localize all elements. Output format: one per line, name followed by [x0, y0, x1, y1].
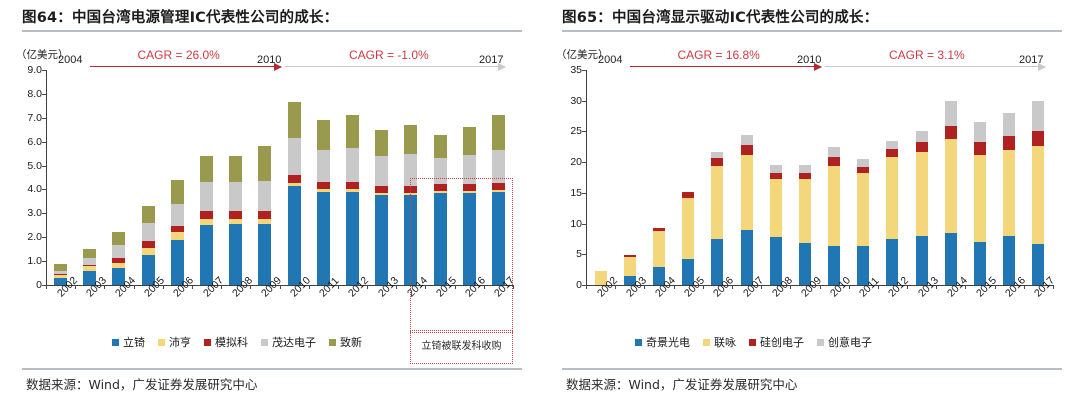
- bar-segment: [1003, 136, 1015, 150]
- bar-segment: [799, 179, 811, 242]
- y-axis-tick-mark: [42, 213, 46, 214]
- bar-segment: [741, 155, 753, 230]
- cagr-right-label: CAGR = -1.0%: [349, 48, 429, 62]
- figure-title-text-65: 中国台湾显示驱动IC代表性公司的成长：: [612, 10, 878, 26]
- bar-segment: [229, 211, 242, 219]
- figure-title-65: 图65：中国台湾显示驱动IC代表性公司的成长：: [562, 6, 1060, 27]
- bar-segment: [974, 122, 986, 142]
- cagr-left-label: CAGR = 16.8%: [677, 48, 759, 62]
- bar-segment: [112, 263, 125, 268]
- x-axis-tick-mark: [761, 285, 762, 289]
- bar-segment: [711, 239, 723, 285]
- chart-legend-64: 立锜沛亨模拟科茂达电子致新: [112, 334, 375, 350]
- bar-segment: [624, 257, 636, 277]
- header-rule-65: [562, 30, 1062, 32]
- bar-segment: [770, 179, 782, 237]
- chart-area-65: （亿美元） 0510152025303520022003200420052006…: [540, 34, 1080, 334]
- y-axis-tick-mark: [42, 118, 46, 119]
- bar-segment: [200, 225, 213, 285]
- legend-item-模拟科[interactable]: 模拟科: [204, 334, 248, 350]
- bar-segment: [346, 148, 359, 183]
- bar-segment: [83, 258, 96, 265]
- cagr-arrow-left: [90, 66, 281, 67]
- bar-segment: [1032, 131, 1044, 145]
- y-axis-tick-label: 9.0: [12, 64, 42, 76]
- bar-2012: [346, 115, 359, 285]
- y-axis-line: [586, 70, 587, 286]
- bar-segment: [317, 150, 330, 182]
- x-axis-tick-mark: [1024, 285, 1025, 289]
- bar-segment: [258, 224, 271, 285]
- bar-segment: [770, 173, 782, 179]
- bar-segment: [886, 149, 898, 157]
- legend-swatch-icon: [329, 339, 336, 346]
- figure-title-text-64: 中国台湾电源管理IC代表性公司的成长：: [72, 10, 338, 26]
- x-axis-tick-mark: [732, 285, 733, 289]
- x-axis-tick-mark: [644, 285, 645, 289]
- cagr-mid-year: 2010: [257, 54, 281, 66]
- bar-segment: [1003, 150, 1015, 237]
- bar-2004: [653, 228, 665, 285]
- bar-segment: [916, 131, 928, 142]
- x-axis-tick-mark: [163, 285, 164, 289]
- bar-2004: [112, 232, 125, 285]
- bar-segment: [492, 115, 505, 150]
- x-axis-tick-mark: [513, 285, 514, 289]
- legend-swatch-icon: [112, 339, 119, 346]
- legend-label: 奇景光电: [646, 334, 690, 350]
- bar-2006: [171, 180, 184, 285]
- y-axis-tick-label: 3.0: [12, 207, 42, 219]
- bar-segment: [171, 232, 184, 239]
- cagr-end-year: 2017: [479, 54, 503, 66]
- bar-segment: [857, 173, 869, 246]
- cagr-start-year: 2004: [598, 54, 622, 66]
- bar-2009: [258, 146, 271, 285]
- bar-segment: [258, 146, 271, 181]
- y-axis-tick-mark: [582, 162, 586, 163]
- x-axis-tick-mark: [849, 285, 850, 289]
- bar-segment: [258, 181, 271, 211]
- bar-segment: [434, 135, 447, 158]
- bar-segment: [83, 266, 96, 270]
- y-axis-tick-label: 0: [552, 279, 582, 291]
- legend-swatch-icon: [158, 339, 165, 346]
- bar-segment: [317, 189, 330, 191]
- y-axis-tick-label: 10: [552, 218, 582, 230]
- x-axis-tick-mark: [46, 285, 47, 289]
- bar-2007: [200, 156, 213, 285]
- y-axis-line: [46, 70, 47, 286]
- legend-swatch-icon: [703, 339, 710, 346]
- bar-2013: [916, 131, 928, 285]
- y-axis-tick-mark: [42, 166, 46, 167]
- legend-item-立锜[interactable]: 立锜: [112, 334, 145, 350]
- bar-segment: [346, 115, 359, 147]
- bar-segment: [886, 239, 898, 285]
- bar-segment: [288, 102, 301, 138]
- bar-segment: [375, 186, 388, 193]
- legend-item-联咏[interactable]: 联咏: [703, 334, 736, 350]
- bar-2008: [229, 156, 242, 285]
- legend-swatch-icon: [817, 339, 824, 346]
- bar-segment: [112, 258, 125, 263]
- y-axis-tick-mark: [582, 254, 586, 255]
- x-axis-tick-mark: [104, 285, 105, 289]
- bar-segment: [171, 180, 184, 204]
- bar-2010: [288, 102, 301, 285]
- legend-item-沛亨[interactable]: 沛亨: [158, 334, 191, 350]
- bar-segment: [711, 166, 723, 239]
- bar-segment: [886, 141, 898, 150]
- bar-segment: [200, 219, 213, 225]
- bar-segment: [974, 242, 986, 285]
- bar-segment: [1032, 146, 1044, 244]
- y-axis-tick-label: 5.0: [12, 160, 42, 172]
- y-axis-tick-mark: [582, 224, 586, 225]
- x-axis-tick-mark: [221, 285, 222, 289]
- bar-segment: [317, 182, 330, 189]
- y-axis-tick-label: 5: [552, 248, 582, 260]
- bar-segment: [741, 135, 753, 145]
- bar-segment: [828, 157, 840, 166]
- source-note-64: 数据来源：Wind，广发证券发展研究中心: [26, 374, 257, 393]
- bar-segment: [288, 186, 301, 285]
- y-axis-tick-mark: [582, 193, 586, 194]
- y-axis-tick-mark: [582, 101, 586, 102]
- y-axis-tick-mark: [582, 70, 586, 71]
- legend-item-硅创电子[interactable]: 硅创电子: [749, 334, 804, 350]
- bar-2010: [828, 147, 840, 285]
- cagr-start-year: 2004: [58, 54, 82, 66]
- bar-segment: [317, 120, 330, 150]
- bar-segment: [288, 138, 301, 175]
- bar-segment: [229, 182, 242, 211]
- y-axis-tick-mark: [42, 70, 46, 71]
- bar-2014: [945, 101, 957, 285]
- bar-segment: [258, 211, 271, 219]
- bar-segment: [54, 264, 67, 271]
- bar-segment: [857, 167, 869, 173]
- chart-legend-65: 奇景光电联咏硅创电子创意电子: [635, 334, 885, 350]
- footer-rule-64: [22, 368, 522, 370]
- bar-segment: [682, 192, 694, 198]
- legend-item-致新[interactable]: 致新: [329, 334, 362, 350]
- x-axis-tick-mark: [134, 285, 135, 289]
- bar-segment: [1032, 101, 1044, 132]
- legend-label: 模拟科: [215, 334, 248, 350]
- y-axis-tick-label: 0: [12, 279, 42, 291]
- legend-swatch-icon: [204, 339, 211, 346]
- bar-segment: [83, 265, 96, 266]
- y-axis-tick-label: 25: [552, 125, 582, 137]
- bar-2017: [1032, 101, 1044, 285]
- y-axis-tick-label: 30: [552, 95, 582, 107]
- bar-segment: [653, 228, 665, 230]
- bar-2011: [857, 159, 869, 285]
- cagr-end-year: 2017: [1019, 54, 1043, 66]
- x-axis-tick-mark: [878, 285, 879, 289]
- bar-2007: [741, 135, 753, 286]
- bar-segment: [799, 243, 811, 285]
- bar-segment: [945, 126, 957, 140]
- bar-segment: [886, 157, 898, 239]
- bar-2015: [974, 122, 986, 285]
- bar-segment: [463, 127, 476, 154]
- figure-number-64: 图64：: [22, 10, 72, 26]
- bar-2008: [770, 165, 782, 285]
- bar-2005: [142, 206, 155, 285]
- x-axis-tick-mark: [338, 285, 339, 289]
- bar-segment: [346, 192, 359, 285]
- bar-segment: [258, 219, 271, 224]
- legend-label: 联咏: [714, 334, 736, 350]
- bar-segment: [375, 193, 388, 195]
- cagr-left-label: CAGR = 26.0%: [137, 48, 219, 62]
- source-note-65: 数据来源：Wind，广发证券发展研究中心: [566, 374, 797, 393]
- bar-segment: [112, 245, 125, 258]
- bar-segment: [200, 211, 213, 219]
- bar-segment: [142, 248, 155, 255]
- x-axis-tick-mark: [907, 285, 908, 289]
- bar-segment: [200, 156, 213, 182]
- y-axis-tick-label: 1.0: [12, 255, 42, 267]
- bar-segment: [171, 226, 184, 232]
- x-axis-tick-mark: [309, 285, 310, 289]
- bar-segment: [83, 249, 96, 258]
- bar-segment: [916, 142, 928, 151]
- cagr-arrow-right: [825, 66, 1045, 67]
- y-axis-tick-mark: [582, 131, 586, 132]
- bar-segment: [828, 166, 840, 246]
- bar-segment: [317, 192, 330, 285]
- bar-segment: [200, 182, 213, 211]
- bar-segment: [945, 139, 957, 233]
- legend-item-茂达电子[interactable]: 茂达电子: [261, 334, 316, 350]
- bar-segment: [799, 165, 811, 172]
- bar-segment: [112, 232, 125, 244]
- x-axis-tick-mark: [674, 285, 675, 289]
- bar-segment: [770, 237, 782, 285]
- cagr-right-label: CAGR = 3.1%: [889, 48, 965, 62]
- bar-segment: [404, 125, 417, 154]
- bar-segment: [945, 101, 957, 126]
- bar-segment: [375, 130, 388, 157]
- legend-label: 创意电子: [828, 334, 872, 350]
- bar-segment: [624, 255, 636, 257]
- y-axis-tick-label: 8.0: [12, 88, 42, 100]
- x-axis-tick-mark: [280, 285, 281, 289]
- y-axis-tick-label: 15: [552, 187, 582, 199]
- y-axis-tick-mark: [42, 189, 46, 190]
- x-axis-tick-mark: [820, 285, 821, 289]
- callout-box-64: [410, 178, 513, 333]
- x-axis-tick-mark: [250, 285, 251, 289]
- bar-segment: [229, 156, 242, 182]
- y-axis-tick-mark: [42, 261, 46, 262]
- bar-segment: [653, 231, 665, 267]
- y-axis-tick-label: 6.0: [12, 136, 42, 148]
- bar-2016: [1003, 113, 1015, 285]
- bar-segment: [741, 230, 753, 285]
- y-axis-tick-label: 20: [552, 156, 582, 168]
- bar-2011: [317, 120, 330, 285]
- bar-segment: [288, 183, 301, 186]
- bar-segment: [711, 158, 723, 165]
- bar-segment: [171, 204, 184, 227]
- legend-label: 立锜: [123, 334, 145, 350]
- x-axis-tick-mark: [1053, 285, 1054, 289]
- legend-label: 硅创电子: [760, 334, 804, 350]
- bar-2012: [886, 141, 898, 285]
- x-axis-tick-mark: [703, 285, 704, 289]
- header-rule-64: [22, 30, 522, 32]
- bar-segment: [828, 147, 840, 157]
- bar-segment: [142, 223, 155, 241]
- bar-2005: [682, 192, 694, 285]
- bar-segment: [229, 224, 242, 285]
- bar-segment: [857, 159, 869, 167]
- x-axis-tick-mark: [936, 285, 937, 289]
- figure-panel-64: 图64：中国台湾电源管理IC代表性公司的成长： （亿美元） 01.02.03.0…: [0, 0, 540, 401]
- bar-segment: [682, 198, 694, 259]
- x-axis-tick-mark: [615, 285, 616, 289]
- legend-swatch-icon: [749, 339, 756, 346]
- bar-segment: [375, 156, 388, 186]
- bar-segment: [916, 152, 928, 236]
- x-axis-tick-mark: [965, 285, 966, 289]
- legend-label: 沛亨: [169, 334, 191, 350]
- y-axis-tick-label: 2.0: [12, 231, 42, 243]
- bar-segment: [974, 155, 986, 242]
- y-axis-tick-mark: [42, 94, 46, 95]
- y-axis-tick-label: 4.0: [12, 183, 42, 195]
- bar-segment: [974, 142, 986, 154]
- bar-segment: [54, 274, 67, 275]
- cagr-mid-year: 2010: [797, 54, 821, 66]
- x-axis-tick-mark: [75, 285, 76, 289]
- legend-label: 茂达电子: [272, 334, 316, 350]
- bar-segment: [54, 275, 67, 278]
- figure-panel-65: 图65：中国台湾显示驱动IC代表性公司的成长： （亿美元） 0510152025…: [540, 0, 1080, 401]
- figure-title-64: 图64：中国台湾电源管理IC代表性公司的成长：: [22, 6, 520, 27]
- legend-swatch-icon: [261, 339, 268, 346]
- bar-segment: [799, 173, 811, 180]
- bar-segment: [770, 165, 782, 172]
- bar-segment: [54, 271, 67, 274]
- bar-segment: [1003, 113, 1015, 136]
- figure-number-65: 图65：: [562, 10, 612, 26]
- x-axis-tick-mark: [192, 285, 193, 289]
- legend-item-创意电子[interactable]: 创意电子: [817, 334, 872, 350]
- bar-segment: [346, 182, 359, 189]
- legend-item-奇景光电[interactable]: 奇景光电: [635, 334, 690, 350]
- bar-segment: [1003, 236, 1015, 285]
- figure-page: 图64：中国台湾电源管理IC代表性公司的成长： （亿美元） 01.02.03.0…: [0, 0, 1080, 401]
- bar-segment: [741, 145, 753, 155]
- y-axis-tick-label: 7.0: [12, 112, 42, 124]
- legend-swatch-icon: [635, 339, 642, 346]
- x-axis-tick-mark: [995, 285, 996, 289]
- x-axis-tick-mark: [586, 285, 587, 289]
- bar-2006: [711, 152, 723, 285]
- bar-segment: [229, 219, 242, 224]
- bar-segment: [142, 206, 155, 223]
- cagr-arrow-right: [285, 66, 505, 67]
- bar-segment: [916, 236, 928, 285]
- legend-label: 致新: [340, 334, 362, 350]
- bar-segment: [945, 233, 957, 285]
- bar-segment: [711, 152, 723, 159]
- callout-note-64: 立锜被联发科收购: [410, 330, 513, 364]
- footer-rule-65: [562, 368, 1062, 370]
- bar-2013: [375, 130, 388, 285]
- y-axis-tick-mark: [42, 142, 46, 143]
- x-axis-tick-mark: [790, 285, 791, 289]
- x-axis-tick-mark: [396, 285, 397, 289]
- cagr-arrow-left: [630, 66, 821, 67]
- bar-segment: [288, 175, 301, 183]
- bar-2009: [799, 165, 811, 285]
- x-axis-tick-mark: [367, 285, 368, 289]
- y-axis-tick-mark: [42, 237, 46, 238]
- y-axis-tick-label: 35: [552, 64, 582, 76]
- bar-segment: [142, 241, 155, 248]
- bar-segment: [346, 189, 359, 191]
- bar-segment: [375, 195, 388, 285]
